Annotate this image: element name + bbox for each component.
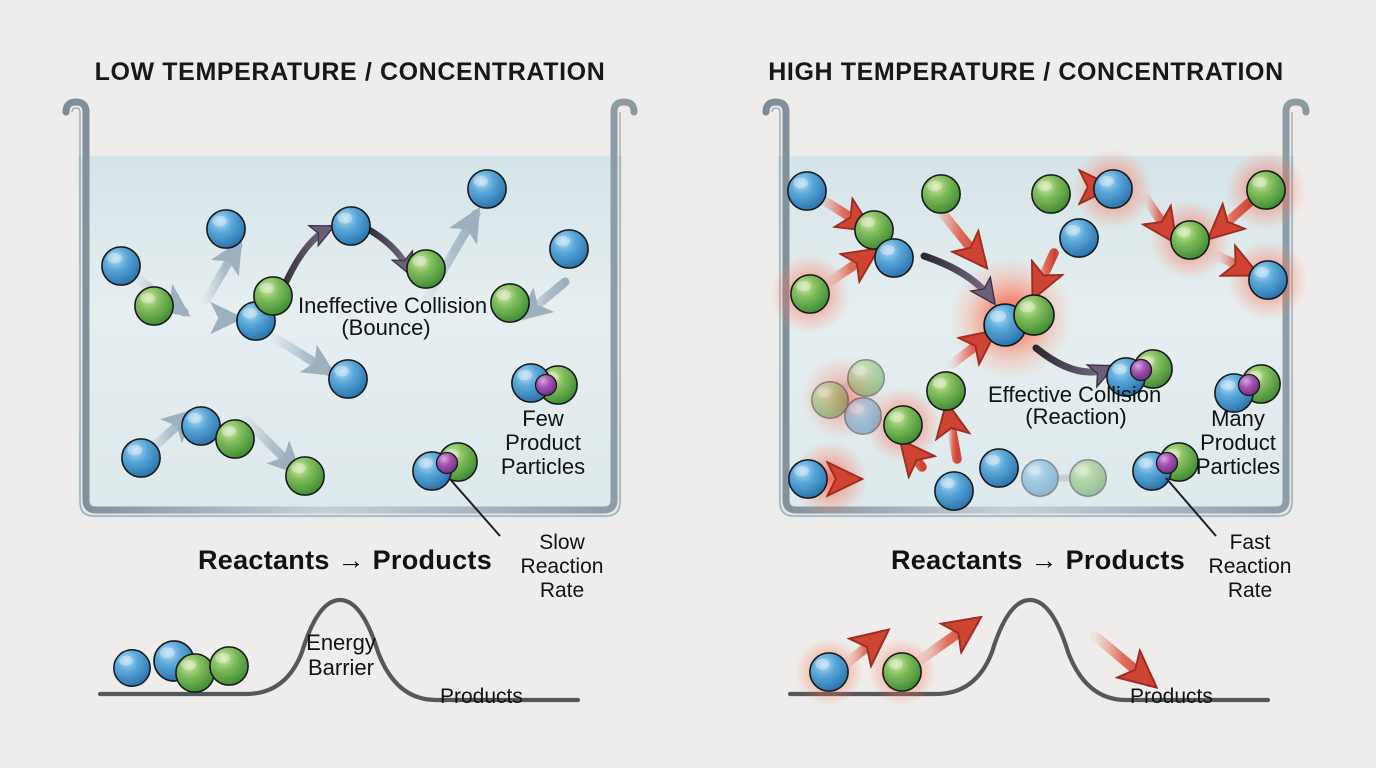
particle-green (176, 654, 214, 692)
label-products-axis-low: Products (440, 685, 610, 710)
particle-blue (468, 170, 506, 208)
graphics-layer (0, 0, 1376, 768)
label-products-axis-high: Products (1130, 685, 1300, 710)
particle-blue (810, 653, 848, 691)
label-many-product-line2: Product (1160, 430, 1316, 456)
particle-green (491, 284, 529, 322)
diagram-canvas: LOW TEMPERATURE / CONCENTRATION HIGH TEM… (0, 0, 1376, 768)
particle-blue (1060, 219, 1098, 257)
energy-arrow-3 (1095, 636, 1150, 682)
label-few-product-line1: Few (465, 406, 621, 432)
label-energy-barrier-line2: Barrier (248, 655, 434, 681)
particle-blue (122, 439, 160, 477)
particle-green (927, 372, 965, 410)
particle-blue (935, 472, 973, 510)
particle-blue (980, 449, 1018, 487)
equation-high: Reactants → Products (823, 545, 1253, 577)
particle-green (216, 420, 254, 458)
particle-blue (875, 239, 913, 277)
particle-green (922, 175, 960, 213)
particle-green (286, 457, 324, 495)
particle-green (254, 277, 292, 315)
particle-blue (789, 460, 827, 498)
particle-blue (1249, 261, 1287, 299)
particle-green (135, 287, 173, 325)
particle-blue (102, 247, 140, 285)
particle-green (210, 647, 248, 685)
particle-green (791, 275, 829, 313)
particle-green (1032, 175, 1070, 213)
label-slow-rate-line3: Rate (502, 579, 622, 604)
particle-green (1014, 295, 1054, 335)
label-few-product-line3: Particles (465, 454, 621, 480)
label-fast-rate-line3: Rate (1190, 579, 1310, 604)
particle-green (1247, 171, 1285, 209)
particle-blue (182, 407, 220, 445)
particle-blue (329, 360, 367, 398)
panel-title-high: HIGH TEMPERATURE / CONCENTRATION (676, 58, 1376, 87)
particle-blue (1094, 170, 1132, 208)
particle-green (884, 406, 922, 444)
particle-blue (788, 172, 826, 210)
label-many-product-line3: Particles (1160, 454, 1316, 480)
energy-reactant-particles (810, 653, 921, 691)
equation-low: Reactants → Products (130, 545, 560, 577)
label-many-product-line1: Many (1160, 406, 1316, 432)
panel-title-low: LOW TEMPERATURE / CONCENTRATION (0, 58, 700, 87)
label-few-product-line2: Product (465, 430, 621, 456)
particle-blue (114, 650, 150, 686)
particle-blue (207, 210, 245, 248)
label-energy-barrier-line1: Energy (248, 630, 434, 656)
particle-green (407, 250, 445, 288)
label-ineffective-collision-line2: (Bounce) (298, 315, 474, 341)
product-molecule (512, 364, 577, 404)
particle-blue (332, 207, 370, 245)
particle-green (1171, 221, 1209, 259)
particle-blue (550, 230, 588, 268)
label-effective-collision-line2: (Reaction) (988, 404, 1164, 430)
energy-reactant-particles (114, 641, 248, 692)
energy-arrow-2 (920, 622, 974, 660)
